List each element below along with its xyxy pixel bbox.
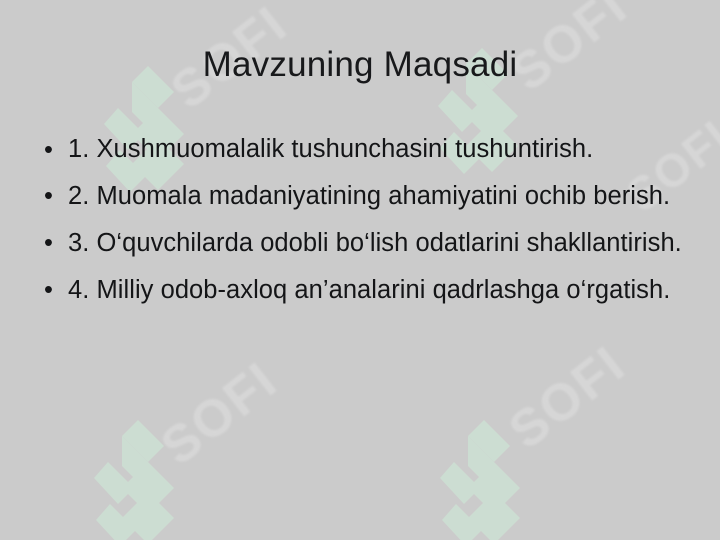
list-item-text: 2. Muomala madaniyatining ahamiyatini oc… (68, 180, 688, 214)
list-item: • 1. Xushmuomalalik tushunchasini tushun… (38, 133, 688, 167)
list-item-text: 1. Xushmuomalalik tushunchasini tushunti… (68, 133, 688, 167)
list-item-text: 4. Milliy odob-axloq an’analarini qadrla… (68, 274, 688, 308)
bullet-marker-icon: • (44, 274, 53, 308)
bullet-marker-icon: • (44, 180, 53, 214)
bullet-marker-icon: • (44, 134, 53, 168)
slide-content: Mavzuning Maqsadi • 1. Xushmuomalalik tu… (0, 0, 720, 540)
slide-canvas: SOFI SOFI SOFI SOFI SOFI Mavzuning Maqsa… (0, 0, 720, 540)
bullet-marker-icon: • (44, 227, 53, 261)
list-item: • 2. Muomala madaniyatining ahamiyatini … (38, 180, 688, 214)
list-item: • 3. O‘quvchilarda odobli bo‘lish odatla… (38, 227, 688, 261)
bullet-list: • 1. Xushmuomalalik tushunchasini tushun… (38, 133, 688, 321)
list-item-text: 3. O‘quvchilarda odobli bo‘lish odatlari… (68, 227, 688, 261)
list-item: • 4. Milliy odob-axloq an’analarini qadr… (38, 274, 688, 308)
page-title: Mavzuning Maqsadi (0, 46, 720, 85)
